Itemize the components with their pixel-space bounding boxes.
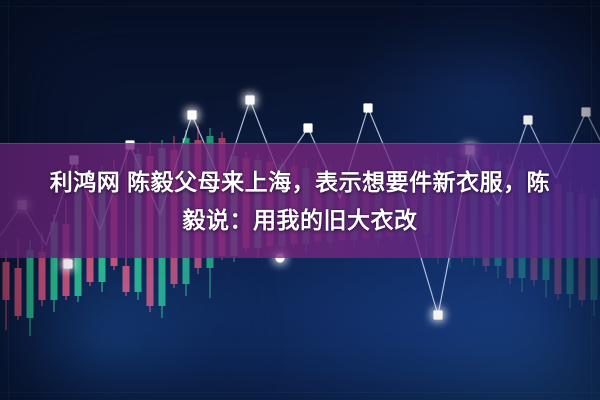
headline-text-block: 利鸿网 陈毅父母来上海，表示想要件新衣服，陈 毅说：用我的旧大衣改 — [0, 143, 600, 258]
headline-line-2: 毅说：用我的旧大衣改 — [183, 201, 418, 239]
banner-image: 利鸿网 陈毅父母来上海，表示想要件新衣服，陈 毅说：用我的旧大衣改 — [0, 0, 600, 400]
headline-line-1: 利鸿网 陈毅父母来上海，表示想要件新衣服，陈 — [42, 163, 558, 201]
